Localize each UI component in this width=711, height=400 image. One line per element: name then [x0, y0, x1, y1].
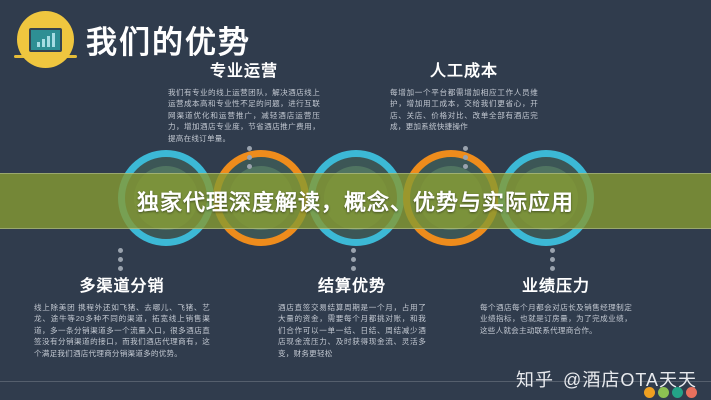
page-title: 我们的优势	[86, 17, 251, 62]
bar-chart-monitor-icon	[17, 11, 74, 68]
connector-dots-bottom-2	[351, 248, 356, 271]
watermark-dots	[644, 387, 697, 398]
card-top-2-title: 人工成本	[390, 57, 538, 81]
connector-dots-bottom-3	[550, 248, 555, 271]
card-bottom-3: 业绩压力 每个酒店每个月都会对店长及销售经理制定业绩指标，也就是订房量，为了完成…	[480, 272, 632, 336]
card-bottom-1-title: 多渠道分销	[34, 272, 210, 296]
card-bottom-2: 结算优势 酒店直签交易结算周期是一个月，占用了大量的资金，需要每个月都挑对账，和…	[278, 272, 426, 359]
card-top-1-title: 专业运营	[168, 57, 320, 81]
watermark-dot-teal	[672, 387, 683, 398]
watermark-dot-green	[658, 387, 669, 398]
monitor-screen-icon	[29, 28, 62, 52]
card-top-1: 专业运营 我们有专业的线上运营团队，解决酒店线上运营成本高和专业性不足的问题，进…	[168, 57, 320, 144]
overlay-banner-bottom-rule	[0, 228, 711, 229]
card-bottom-2-title: 结算优势	[278, 272, 426, 296]
card-bottom-3-title: 业绩压力	[480, 272, 632, 296]
card-bottom-1: 多渠道分销 线上除美团 携程外还如飞猪、去哪儿、飞猪、艺龙、途牛等20多种不同的…	[34, 272, 210, 359]
card-bottom-3-body: 每个酒店每个月都会对店长及销售经理制定业绩指标，也就是订房量，为了完成业绩，这些…	[480, 302, 632, 336]
card-bottom-1-body: 线上除美团 携程外还如飞猪、去哪儿、飞猪、艺龙、途牛等20多种不同的渠道，拓宽线…	[34, 302, 210, 359]
card-bottom-2-body: 酒店直签交易结算周期是一个月，占用了大量的资金，需要每个月都挑对账，和我们合作可…	[278, 302, 426, 359]
watermark-dot-orange	[644, 387, 655, 398]
watermark-dot-red	[686, 387, 697, 398]
card-top-2-body: 每增加一个平台都需增加相应工作人员维护，增加用工成本，交给我们更省心，开店、关店…	[390, 87, 538, 133]
infographic-canvas: 我们的优势 专业运营 我们有专业的线上运营团队，解决酒店线上运营成本高和专业性不…	[0, 0, 711, 400]
card-top-2: 人工成本 每增加一个平台都需增加相应工作人员维护，增加用工成本，交给我们更省心，…	[390, 57, 538, 133]
connector-dots-top-2	[463, 146, 468, 169]
watermark-brand: 知乎	[516, 366, 554, 392]
overlay-headline: 独家代理深度解读，概念、优势与实际应用	[0, 185, 711, 217]
card-top-1-body: 我们有专业的线上运营团队，解决酒店线上运营成本高和专业性不足的问题，进行互联网渠…	[168, 87, 320, 144]
connector-dots-bottom-1	[118, 248, 123, 271]
overlay-banner-top-rule	[0, 173, 711, 174]
connector-dots-top-1	[247, 146, 252, 169]
